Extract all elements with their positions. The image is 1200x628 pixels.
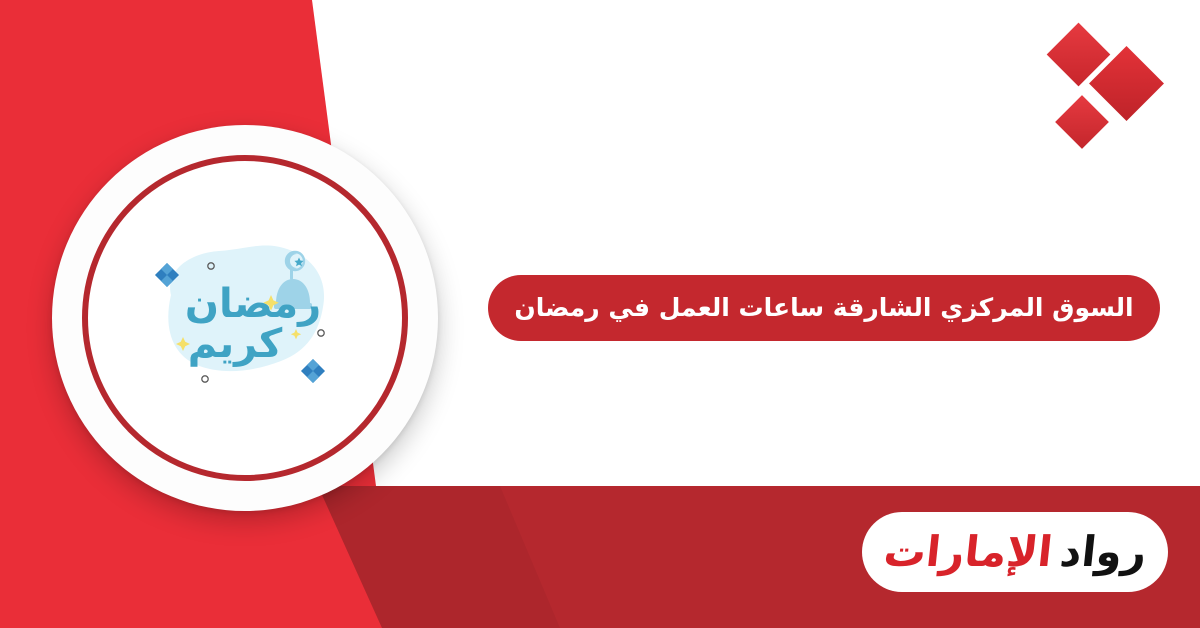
banner-canvas: رمضان كريم — [0, 0, 1200, 628]
diamond-icon-art-bottom — [301, 359, 325, 383]
brand-logo-word-secondary: الإمارات — [882, 531, 1055, 573]
brand-logo-text: رواد الإمارات — [882, 531, 1149, 573]
page-title-pill: السوق المركزي الشارقة ساعات العمل في رمض… — [488, 275, 1160, 341]
brand-logo[interactable]: رواد الإمارات — [862, 512, 1168, 592]
feature-image-circle: رمضان كريم — [52, 125, 438, 511]
greeting-line-2: كريم — [188, 321, 283, 367]
circle-image-area: رمضان كريم — [90, 163, 400, 473]
page-title: السوق المركزي الشارقة ساعات العمل في رمض… — [514, 292, 1133, 323]
brand-logo-word-primary: رواد — [1058, 531, 1149, 573]
ramadan-kareem-illustration: رمضان كريم — [125, 233, 365, 403]
